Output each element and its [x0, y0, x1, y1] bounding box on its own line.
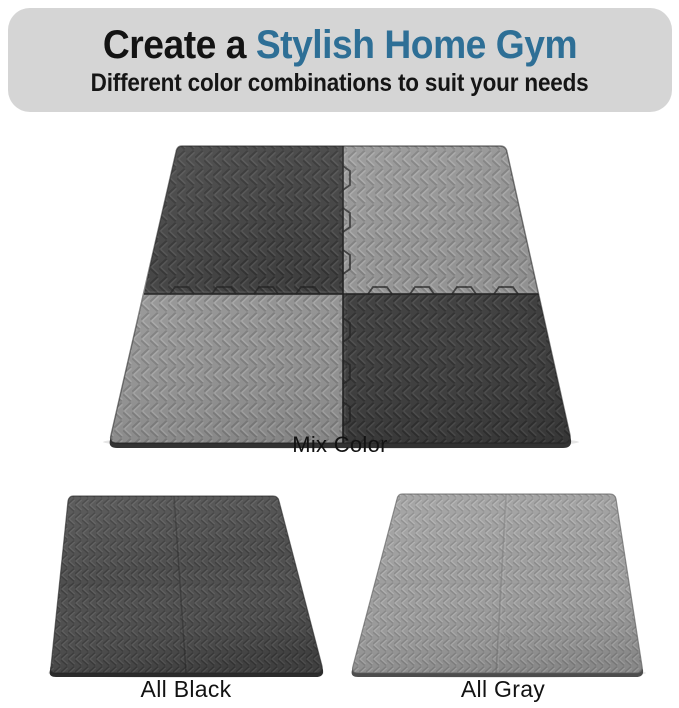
headline: Create a Stylish Home Gym [103, 23, 577, 67]
mat-illustration-all-black [26, 484, 346, 684]
mat-caption-all-black: All Black [26, 676, 346, 703]
header-banner: Create a Stylish Home Gym Different colo… [8, 8, 672, 112]
mat-illustration-all-gray [338, 484, 668, 684]
mat-illustration-mix-color [60, 132, 620, 452]
mat-figure-mix-color: Mix Color [60, 132, 620, 462]
mat-caption-mix-color: Mix Color [60, 432, 620, 458]
headline-accent: Stylish Home Gym [256, 23, 577, 67]
mat-caption-all-gray: All Gray [338, 676, 668, 703]
mat-figure-all-gray: All Gray [338, 484, 668, 708]
subheadline: Different color combinations to suit you… [91, 69, 589, 97]
mat-surface-group [26, 484, 346, 684]
headline-lead: Create a [103, 23, 256, 67]
mat-figure-all-black: All Black [26, 484, 346, 708]
